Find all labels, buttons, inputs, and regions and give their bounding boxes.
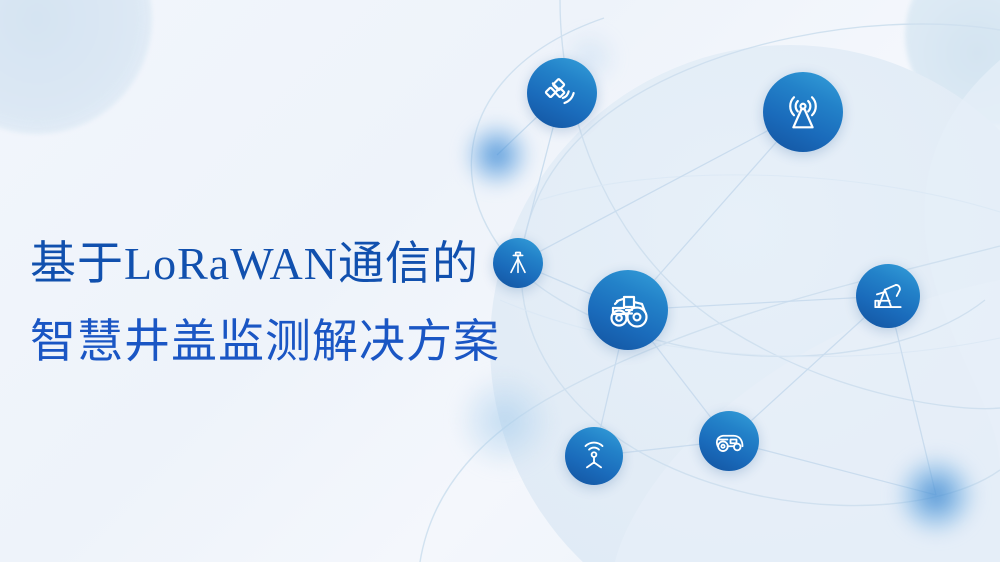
node-tractor[interactable] [588, 270, 668, 350]
title-line-2: 智慧井盖监测解决方案 [30, 303, 590, 381]
signal-beacon-icon [577, 439, 611, 473]
node-survey-tripod[interactable] [493, 238, 543, 288]
oil-pumpjack-icon [869, 277, 907, 315]
node-radio-tower[interactable] [763, 72, 843, 152]
slide-canvas: 基于LoRaWAN通信的 智慧井盖监测解决方案 [0, 0, 1000, 562]
node-signal-beacon[interactable] [565, 427, 623, 485]
harvester-icon [711, 423, 747, 459]
node-satellite[interactable] [527, 58, 597, 128]
radio-tower-icon [780, 89, 826, 135]
tractor-icon [604, 286, 652, 334]
survey-tripod-icon [504, 249, 532, 277]
satellite-dish-icon [542, 73, 582, 113]
node-harvester[interactable] [699, 411, 759, 471]
node-oil-pumpjack[interactable] [856, 264, 920, 328]
